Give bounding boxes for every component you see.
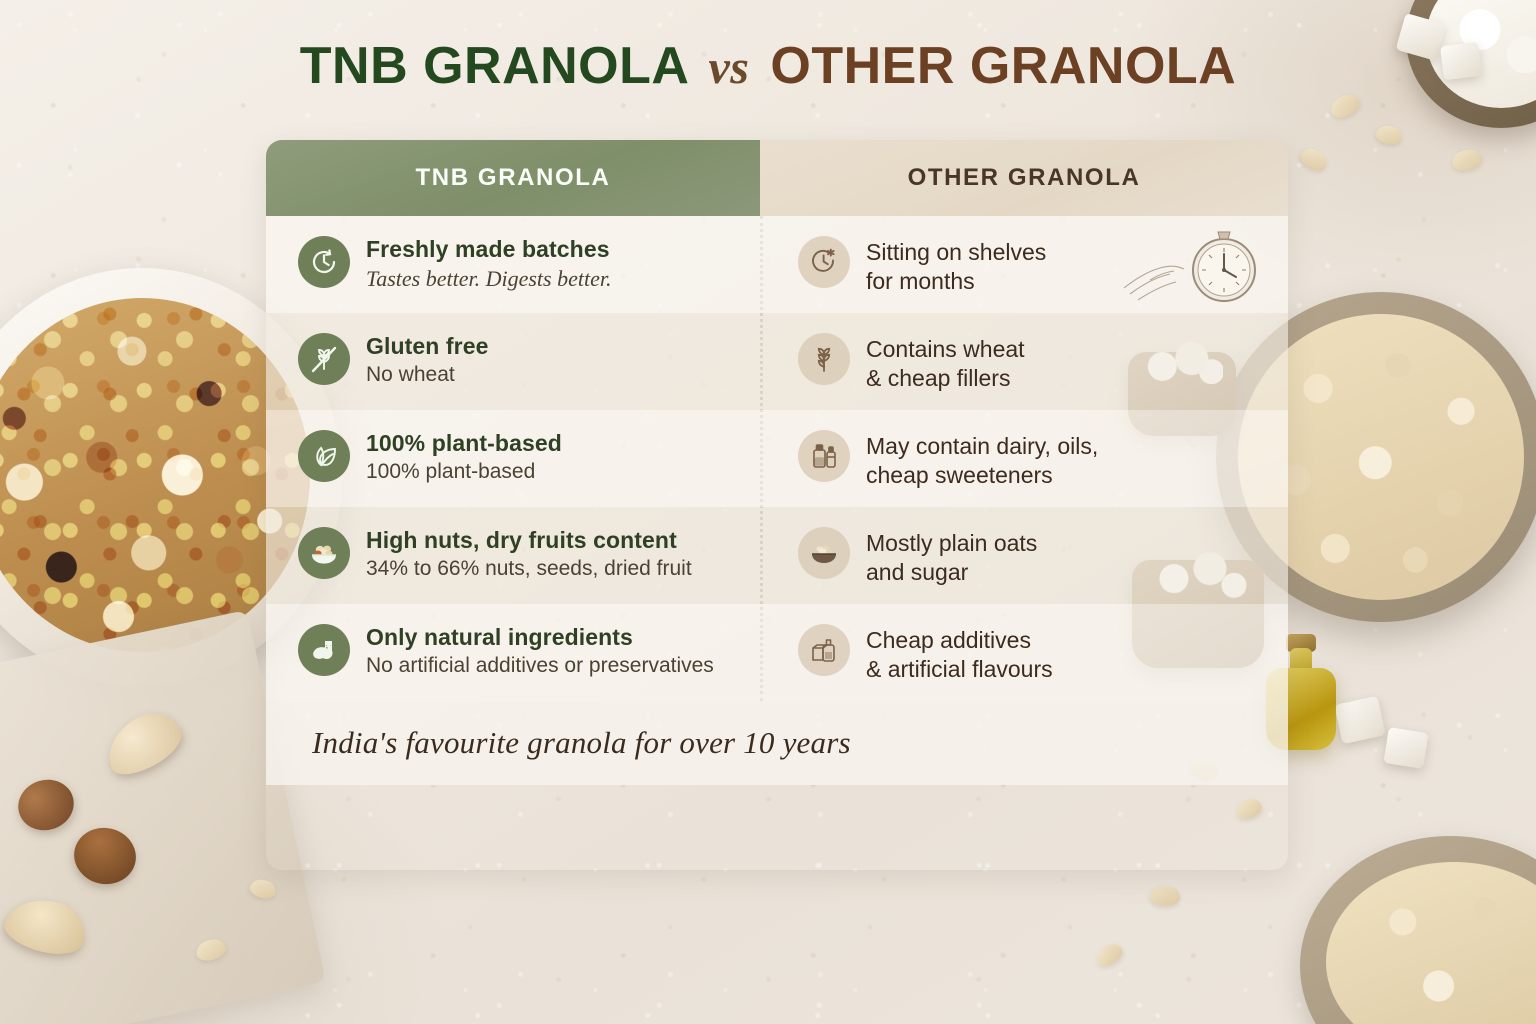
row-line2-other: for months bbox=[866, 267, 1046, 296]
row-cell-other: Cheap additives & artificial flavours bbox=[760, 604, 1288, 701]
panel-footer: India's favourite granola for over 10 ye… bbox=[266, 701, 1288, 785]
row-text-tnb: Freshly made batches Tastes better. Dige… bbox=[366, 234, 611, 293]
leaf-icon bbox=[298, 430, 350, 482]
photo-oat-flake bbox=[1149, 884, 1181, 907]
footer-tagline: India's favourite granola for over 10 ye… bbox=[312, 725, 851, 761]
natural-ingredients-icon bbox=[298, 624, 350, 676]
additive-bottle-icon bbox=[798, 624, 850, 676]
row-line2-other: & artificial flavours bbox=[866, 655, 1053, 684]
row-text-other: Mostly plain oats and sugar bbox=[866, 525, 1037, 586]
comparison-header-row: TNB GRANOLA OTHER GRANOLA bbox=[266, 140, 1288, 216]
photo-sugar-cube bbox=[1383, 727, 1428, 769]
row-sub-tnb: No artificial additives or preservatives bbox=[366, 653, 714, 679]
photo-oat-flake bbox=[1093, 941, 1125, 970]
row-cell-tnb: High nuts, dry fruits content 34% to 66%… bbox=[266, 507, 760, 604]
title-vs: vs bbox=[702, 41, 755, 94]
no-wheat-icon bbox=[298, 333, 350, 385]
table-row: Only natural ingredients No artificial a… bbox=[266, 604, 1288, 701]
row-text-tnb: Gluten free No wheat bbox=[366, 331, 489, 389]
row-cell-tnb: Only natural ingredients No artificial a… bbox=[266, 604, 760, 701]
table-row: High nuts, dry fruits content 34% to 66%… bbox=[266, 507, 1288, 604]
row-title-tnb: Only natural ingredients bbox=[366, 624, 714, 651]
plain-oats bbox=[1326, 862, 1536, 1024]
column-header-other: OTHER GRANOLA bbox=[760, 140, 1288, 216]
row-sub-tnb: 100% plant-based bbox=[366, 459, 562, 485]
row-cell-other: May contain dairy, oils, cheap sweetener… bbox=[760, 410, 1288, 507]
table-row: Freshly made batches Tastes better. Dige… bbox=[266, 216, 1288, 313]
clock-icon bbox=[298, 236, 350, 288]
photo-sugar-cube bbox=[1334, 696, 1385, 744]
row-cell-tnb: Gluten free No wheat bbox=[266, 313, 760, 410]
row-line2-other: and sugar bbox=[866, 558, 1037, 587]
table-row: Gluten free No wheat Contains wheat & ch… bbox=[266, 313, 1288, 410]
nut-bowl-icon bbox=[298, 527, 350, 579]
row-title-tnb: 100% plant-based bbox=[366, 430, 562, 457]
row-line2-other: & cheap fillers bbox=[866, 364, 1025, 393]
comparison-body: Freshly made batches Tastes better. Dige… bbox=[266, 216, 1288, 701]
row-title-tnb: High nuts, dry fruits content bbox=[366, 527, 692, 554]
row-line2-other: cheap sweeteners bbox=[866, 461, 1098, 490]
row-cell-other: Mostly plain oats and sugar bbox=[760, 507, 1288, 604]
row-text-other: May contain dairy, oils, cheap sweetener… bbox=[866, 428, 1098, 489]
photo-oat-flake bbox=[1297, 144, 1331, 175]
row-text-other: Contains wheat & cheap fillers bbox=[866, 331, 1025, 392]
row-cell-tnb: Freshly made batches Tastes better. Dige… bbox=[266, 216, 760, 313]
table-row: 100% plant-based 100% plant-based bbox=[266, 410, 1288, 507]
row-line1-other: Sitting on shelves bbox=[866, 238, 1046, 267]
row-line1-other: Mostly plain oats bbox=[866, 529, 1037, 558]
title-left: TNB GRANOLA bbox=[300, 37, 688, 95]
row-text-other: Cheap additives & artificial flavours bbox=[866, 622, 1053, 683]
row-line1-other: Contains wheat bbox=[866, 335, 1025, 364]
row-title-tnb: Gluten free bbox=[366, 333, 489, 360]
row-sub-tnb: 34% to 66% nuts, seeds, dried fruit bbox=[366, 556, 692, 582]
comparison-panel: TNB GRANOLA OTHER GRANOLA Freshly made b… bbox=[266, 140, 1288, 870]
wheat-icon bbox=[798, 333, 850, 385]
oat-bowl-icon bbox=[798, 527, 850, 579]
row-text-tnb: Only natural ingredients No artificial a… bbox=[366, 622, 714, 680]
row-cell-other: Sitting on shelves for months bbox=[760, 216, 1288, 313]
row-sub-tnb: Tastes better. Digests better. bbox=[366, 265, 611, 293]
row-text-tnb: 100% plant-based 100% plant-based bbox=[366, 428, 562, 486]
dusty-clock-icon bbox=[798, 236, 850, 288]
row-text-tnb: High nuts, dry fruits content 34% to 66%… bbox=[366, 525, 692, 583]
row-title-tnb: Freshly made batches bbox=[366, 236, 611, 263]
row-line1-other: Cheap additives bbox=[866, 626, 1053, 655]
page-title: TNB GRANOLA vs OTHER GRANOLA bbox=[0, 36, 1536, 96]
row-cell-tnb: 100% plant-based 100% plant-based bbox=[266, 410, 760, 507]
photo-oat-flake bbox=[1451, 148, 1483, 172]
photo-bowl-of-plain-oats-lower bbox=[1300, 836, 1536, 1024]
row-sub-tnb: No wheat bbox=[366, 362, 489, 388]
row-text-other: Sitting on shelves for months bbox=[866, 234, 1046, 295]
photo-oat-flake bbox=[1374, 123, 1404, 147]
bottles-icon bbox=[798, 430, 850, 482]
title-right: OTHER GRANOLA bbox=[770, 37, 1236, 95]
column-header-tnb: TNB GRANOLA bbox=[266, 140, 760, 216]
pocket-watch-sketch-illustration bbox=[1120, 222, 1270, 318]
row-line1-other: May contain dairy, oils, bbox=[866, 432, 1098, 461]
row-cell-other: Contains wheat & cheap fillers bbox=[760, 313, 1288, 410]
